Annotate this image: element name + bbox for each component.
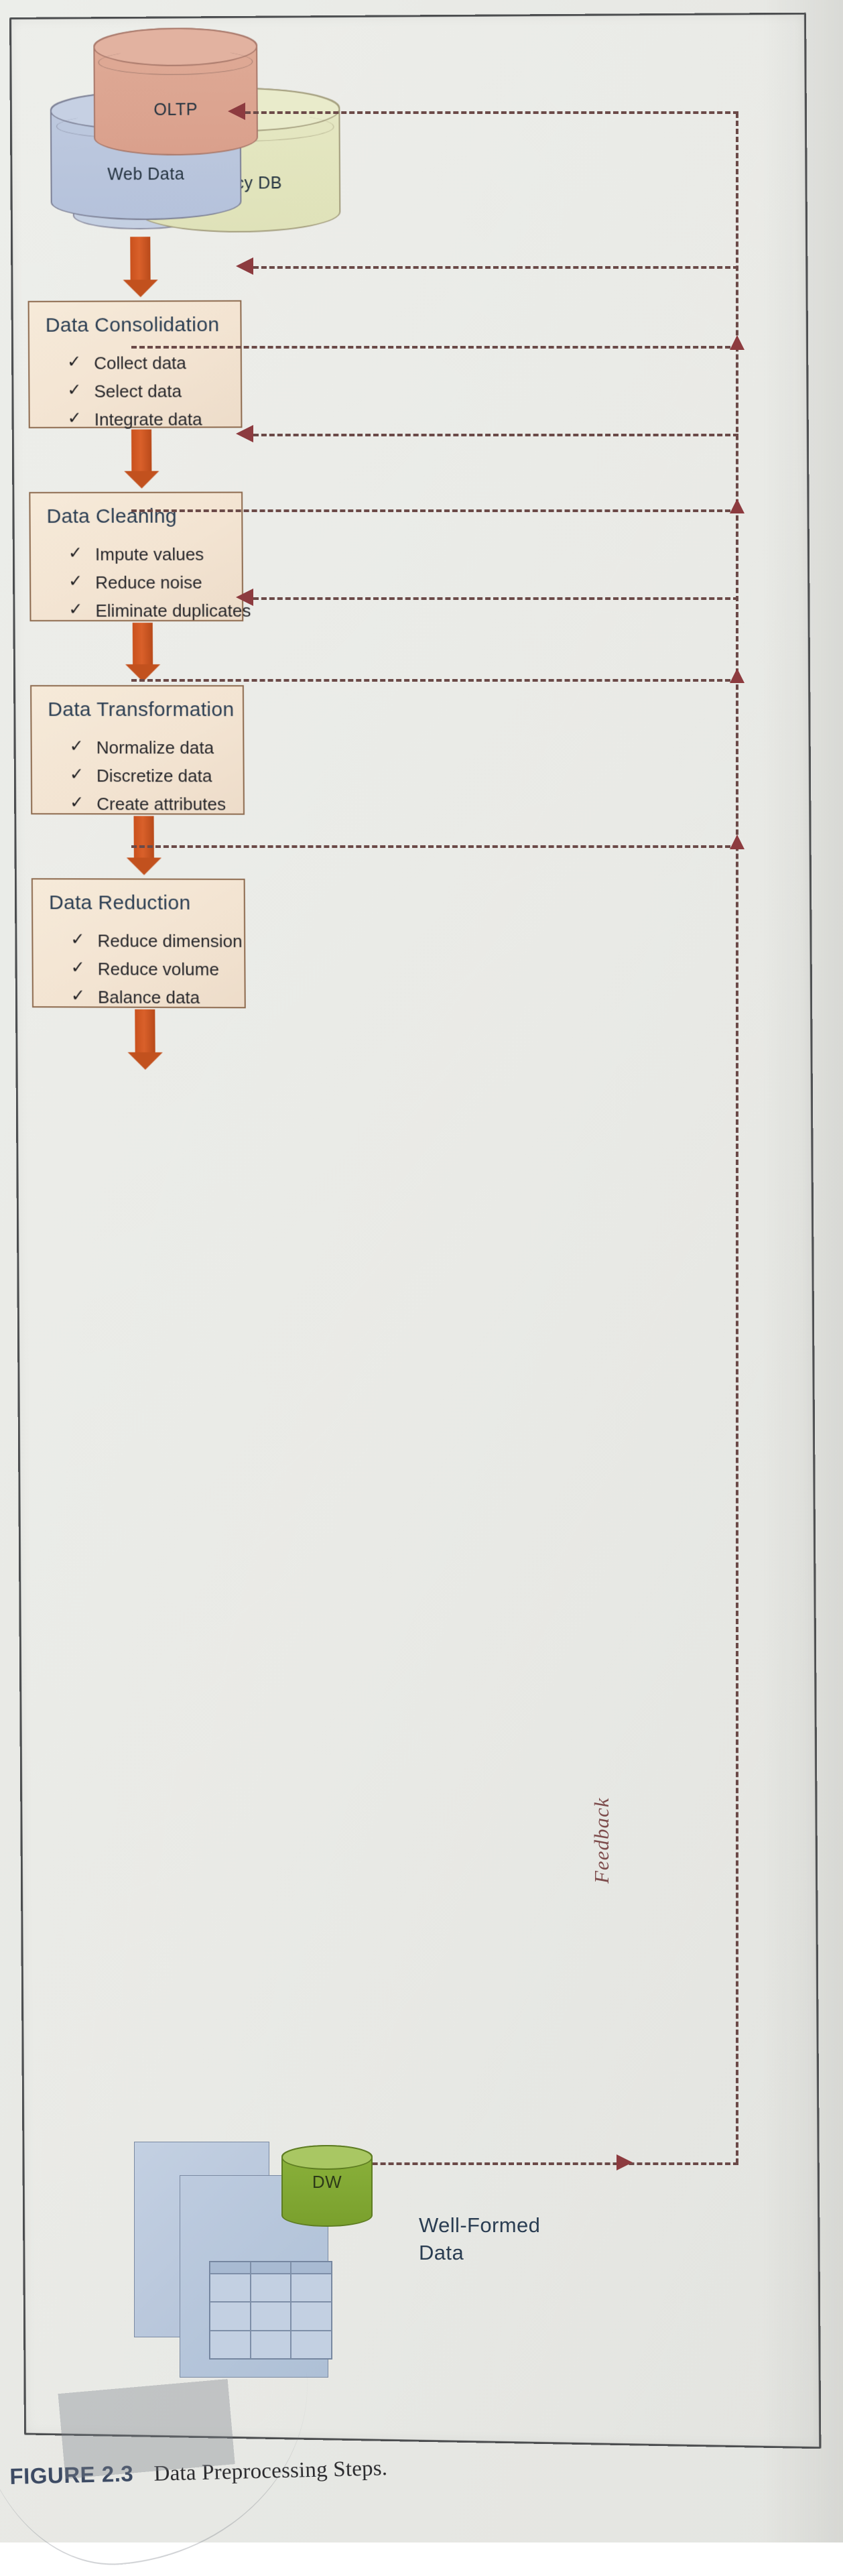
scanned-page: Web Data Social Data Legacy DB OLTP	[0, 0, 843, 2542]
feedback-arrowhead-cleaning-icon	[236, 425, 253, 442]
feedback-chevron-cleaning-icon	[730, 499, 744, 513]
feedback-branch-to-consolidation	[253, 266, 738, 269]
feedback-chevron-transformation-icon	[730, 668, 744, 683]
check-icon: ✓	[70, 789, 84, 816]
feedback-label: Feedback	[590, 1798, 614, 1884]
check-icon: ✓	[68, 568, 82, 595]
step-item: ✓Reduce dimension	[70, 926, 242, 955]
step-item-list: ✓Collect data ✓Select data ✓Integrate da…	[67, 349, 202, 434]
figure-frame: Web Data Social Data Legacy DB OLTP	[9, 13, 821, 2449]
cylinder-oltp: OLTP	[93, 27, 258, 156]
step-item: ✓Normalize data	[70, 733, 226, 761]
check-icon: ✓	[67, 349, 81, 376]
step-title: Data Consolidation	[46, 314, 220, 337]
flow-arrow-5-icon	[127, 1009, 163, 1070]
feedback-return-from-consolidation	[131, 346, 738, 349]
check-icon: ✓	[70, 926, 84, 953]
cylinder-data-warehouse: DW	[281, 2145, 373, 2227]
step-item-label: Discretize data	[96, 765, 212, 786]
step-item-label: Select data	[94, 381, 182, 401]
step-item-label: Collect data	[94, 353, 186, 373]
step-title: Data Reduction	[49, 892, 191, 915]
step-item: ✓Discretize data	[70, 761, 226, 790]
well-formed-line1: Well-Formed	[419, 2212, 640, 2240]
check-icon: ✓	[68, 405, 82, 432]
step-title: Data Cleaning	[46, 505, 177, 528]
flow-arrow-1-icon	[123, 237, 158, 297]
figure-caption: FIGURE 2.3 Data Preprocessing Steps.	[9, 2445, 814, 2490]
feedback-arrowhead-consolidation-icon	[236, 257, 253, 275]
step-title: Data Transformation	[48, 698, 234, 721]
feedback-branch-to-transformation	[253, 597, 738, 600]
well-formed-data-label: Well-Formed Data	[419, 2212, 640, 2267]
step-item-label: Reduce dimension	[97, 930, 242, 951]
cylinder-top	[281, 2145, 373, 2170]
step-item-label: Balance data	[98, 987, 200, 1008]
well-formed-line2: Data	[419, 2240, 640, 2267]
check-icon: ✓	[67, 377, 81, 404]
feedback-branch-to-cleaning	[253, 434, 738, 436]
check-icon: ✓	[71, 983, 85, 1010]
step-item-label: Create attributes	[96, 794, 226, 814]
step-box-data-reduction[interactable]: Data Reduction ✓Reduce dimension ✓Reduce…	[31, 878, 246, 1008]
feedback-return-from-transformation	[131, 679, 738, 682]
step-item-label: Reduce noise	[95, 572, 202, 593]
step-item: ✓Create attributes	[70, 790, 226, 818]
step-item-list: ✓Impute values ✓Reduce noise ✓Eliminate …	[68, 540, 251, 625]
step-item: ✓Impute values	[68, 540, 251, 568]
check-icon: ✓	[68, 596, 82, 623]
check-icon: ✓	[70, 761, 84, 788]
step-item-label: Reduce volume	[98, 959, 219, 980]
figure-caption-text: Data Preprocessing Steps.	[153, 2456, 387, 2486]
step-item: ✓Eliminate duplicates	[68, 597, 251, 625]
feedback-arrowhead-sources-icon	[228, 103, 245, 120]
step-item-label: Eliminate duplicates	[95, 601, 251, 621]
feedback-return-from-cleaning	[131, 509, 738, 512]
figure-number: FIGURE 2.3	[9, 2461, 134, 2489]
step-box-data-transformation[interactable]: Data Transformation ✓Normalize data ✓Dis…	[30, 685, 245, 815]
step-item-label: Impute values	[95, 544, 204, 564]
flow-arrow-2-icon	[124, 430, 159, 489]
feedback-arrowhead-transformation-icon	[236, 589, 253, 606]
feedback-return-from-reduction	[131, 845, 738, 848]
step-item: ✓Reduce volume	[71, 955, 243, 983]
step-item: ✓Balance data	[71, 983, 243, 1012]
cylinder-label: Web Data	[50, 164, 241, 184]
step-item-label: Integrate data	[94, 410, 202, 430]
check-icon: ✓	[68, 540, 82, 567]
step-item: ✓Collect data	[67, 349, 202, 377]
data-table-icon	[209, 2261, 332, 2359]
step-item-list: ✓Reduce dimension ✓Reduce volume ✓Balanc…	[70, 926, 243, 1011]
step-box-data-consolidation[interactable]: Data Consolidation ✓Collect data ✓Select…	[28, 300, 243, 428]
step-item-list: ✓Normalize data ✓Discretize data ✓Create…	[70, 733, 226, 818]
feedback-branch-to-sources	[245, 111, 738, 114]
feedback-arrowhead-bottom-icon	[617, 2154, 633, 2170]
feedback-chevron-reduction-icon	[730, 835, 744, 849]
check-icon: ✓	[70, 733, 84, 760]
step-item: ✓Select data	[67, 377, 202, 406]
step-item: ✓Reduce noise	[68, 568, 251, 597]
step-item-label: Normalize data	[96, 737, 214, 757]
cylinder-label: DW	[281, 2172, 373, 2193]
feedback-spine	[736, 113, 738, 2164]
flow-arrow-3-icon	[125, 623, 161, 682]
feedback-chevron-consolidation-icon	[730, 335, 744, 350]
check-icon: ✓	[71, 954, 85, 981]
